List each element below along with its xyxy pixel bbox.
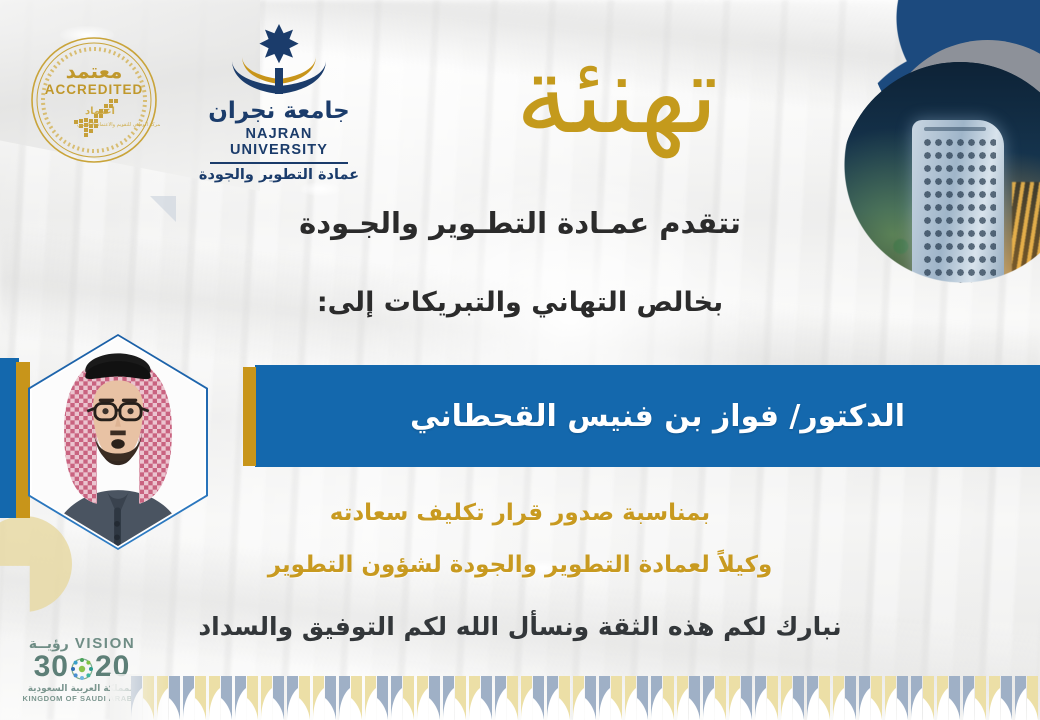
pattern-cell xyxy=(936,676,962,720)
accreditation-seal: معتمد ACCREDITED اعتماد المركز الوطني لل… xyxy=(28,34,160,166)
campus-photo-corner xyxy=(810,0,1040,300)
logo-divider xyxy=(210,162,348,164)
university-english-name: NAJRAN UNIVERSITY xyxy=(196,126,362,158)
pattern-cell xyxy=(780,676,806,720)
pattern-cell xyxy=(832,676,858,720)
pattern-cell xyxy=(858,676,884,720)
banner-gold-edge xyxy=(243,367,256,466)
pattern-cell xyxy=(416,676,442,720)
pattern-cell xyxy=(442,676,468,720)
occasion-line-1: بمناسبة صدور قرار تكليف سعادته xyxy=(0,500,1040,526)
pattern-cell xyxy=(962,676,988,720)
pattern-cell xyxy=(260,676,286,720)
university-arabic-name: جامعة نجران xyxy=(196,100,362,123)
seal-authority-sub: المركز الوطني للتقويم والاعتماد الأكاديم… xyxy=(77,121,160,128)
headline-text: تهنئة xyxy=(516,33,719,158)
seal-arabic-text: معتمد xyxy=(66,59,123,83)
pattern-cell xyxy=(234,676,260,720)
ceiling-lamp-icon xyxy=(300,182,340,196)
pattern-cell xyxy=(806,676,832,720)
seal-english-text: ACCREDITED xyxy=(45,82,144,97)
pattern-cell xyxy=(988,676,1014,720)
pattern-cell xyxy=(182,676,208,720)
pattern-cell xyxy=(338,676,364,720)
bottom-pattern-strip xyxy=(130,676,1040,720)
pattern-strip-fade xyxy=(110,674,170,720)
vision-label-en: VISION xyxy=(75,636,135,651)
pattern-cell xyxy=(910,676,936,720)
pattern-cell xyxy=(624,676,650,720)
pattern-cell xyxy=(728,676,754,720)
congratulation-poster: معتمد ACCREDITED اعتماد المركز الوطني لل… xyxy=(0,0,1040,720)
pattern-cell xyxy=(390,676,416,720)
pattern-cell xyxy=(312,676,338,720)
pattern-cell xyxy=(702,676,728,720)
vision-knot-icon xyxy=(70,657,94,681)
seal-check-icon xyxy=(74,99,118,137)
pattern-cell xyxy=(754,676,780,720)
closing-line: نبارك لكم هذه الثقة ونسأل الله لكم التوف… xyxy=(0,612,1040,641)
campus-lights xyxy=(1012,182,1040,300)
pattern-cell xyxy=(572,676,598,720)
pattern-cell xyxy=(468,676,494,720)
pattern-cell xyxy=(364,676,390,720)
pattern-cell xyxy=(650,676,676,720)
pattern-cell xyxy=(546,676,572,720)
pattern-cell xyxy=(208,676,234,720)
pattern-cell xyxy=(286,676,312,720)
tower-slit xyxy=(924,127,986,131)
vision-year-right: 30 xyxy=(34,652,69,682)
pattern-cell xyxy=(598,676,624,720)
deanship-label: عمادة التطوير والجودة xyxy=(196,167,362,183)
occasion-line-2: وكيلاً لعمادة التطوير والجودة لشؤون التط… xyxy=(0,552,1040,578)
honoree-name: الدكتور/ فواز بن فنيس القحطاني xyxy=(275,365,1040,467)
vision-label-ar: رؤيــة xyxy=(29,637,69,651)
campus-night-photo xyxy=(840,62,1040,300)
pattern-cell xyxy=(520,676,546,720)
pattern-cell xyxy=(1014,676,1040,720)
intro-line-2: بخالص التهاني والتبريكات إلى: xyxy=(0,287,1040,318)
intro-line-1: تتقدم عمـادة التطـوير والجـودة xyxy=(0,206,1040,240)
university-emblem-icon xyxy=(196,20,362,98)
pattern-cell xyxy=(494,676,520,720)
pattern-cell xyxy=(676,676,702,720)
page-title: تهنئة xyxy=(452,24,782,164)
pattern-cell xyxy=(884,676,910,720)
najran-university-logo: جامعة نجران NAJRAN UNIVERSITY عمادة التط… xyxy=(196,20,362,168)
star-icon xyxy=(259,24,298,63)
